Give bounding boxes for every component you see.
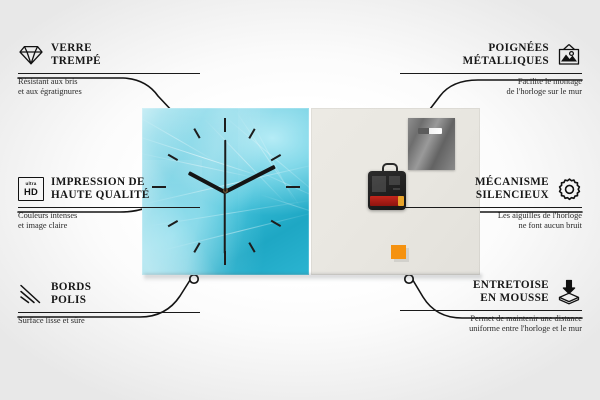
clock-second-hand-tail [224, 140, 226, 192]
clock-tick [224, 118, 226, 132]
feature-divider [18, 312, 200, 313]
feature-divider [400, 73, 582, 74]
feature-divider [400, 207, 582, 208]
feature-divider [400, 310, 582, 311]
feature-header: ultra HD IMPRESSION DE HAUTE QUALITÉ [18, 174, 200, 204]
feature-header: ENTRETOISE EN MOUSSE [400, 277, 582, 307]
feature-description: Résistant aux bris et aux égratignures [18, 77, 200, 98]
feature-title: MÉCANISME SILENCIEUX [400, 176, 549, 201]
clock-tick [193, 242, 200, 252]
feature-title: IMPRESSION DE HAUTE QUALITÉ [51, 176, 200, 201]
metal-hanger-plate [408, 118, 455, 170]
feature-divider [18, 73, 200, 74]
feature-title: VERRE TREMPÉ [51, 42, 200, 67]
diamond-icon [18, 42, 44, 68]
feature-description: Couleurs intenses et image claire [18, 211, 200, 232]
orange-foam-spacer [391, 245, 406, 259]
feature-bords-polis: BORDS POLIS Surface lisse et sûre [18, 279, 200, 326]
polished-edges-icon [18, 281, 44, 307]
feature-entretoise-mousse: ENTRETOISE EN MOUSSE Permet de maintenir… [400, 277, 582, 335]
feature-title: ENTRETOISE EN MOUSSE [400, 279, 549, 304]
feature-header: POIGNÉES MÉTALLIQUES [400, 40, 582, 70]
feature-mecanisme-silencieux: MÉCANISME SILENCIEUX Les aiguilles de l'… [400, 174, 582, 232]
gear-icon [556, 176, 582, 202]
feature-header: MÉCANISME SILENCIEUX [400, 174, 582, 204]
feature-description: Les aiguilles de l'horloge ne font aucun… [400, 211, 582, 232]
clock-tick [286, 186, 300, 188]
clock-second-hand [224, 192, 226, 254]
feature-description: Surface lisse et sûre [18, 316, 200, 326]
feature-title: BORDS POLIS [51, 281, 200, 306]
hanger-slot [418, 128, 442, 134]
infographic-canvas: VERRE TREMPÉ Résistant aux bris et aux é… [0, 0, 600, 400]
feature-header: BORDS POLIS [18, 279, 200, 309]
feature-divider [18, 207, 200, 208]
feature-description: Permet de maintenir une distance uniform… [400, 314, 582, 335]
feature-impression-hd: ultra HD IMPRESSION DE HAUTE QUALITÉ Cou… [18, 174, 200, 232]
foam-spacer-icon [556, 279, 582, 305]
framed-picture-hanging-icon [556, 42, 582, 68]
ultra-hd-icon-big-label: HD [24, 187, 38, 196]
feature-poignees-metalliques: POIGNÉES MÉTALLIQUES Facilite le montage… [400, 40, 582, 98]
feature-title: POIGNÉES MÉTALLIQUES [400, 42, 549, 67]
feature-description: Facilite le montage de l'horloge sur le … [400, 77, 582, 98]
ultra-hd-icon: ultra HD [18, 176, 44, 202]
feature-header: VERRE TREMPÉ [18, 40, 200, 70]
feature-verre-trempe: VERRE TREMPÉ Résistant aux bris et aux é… [18, 40, 200, 98]
